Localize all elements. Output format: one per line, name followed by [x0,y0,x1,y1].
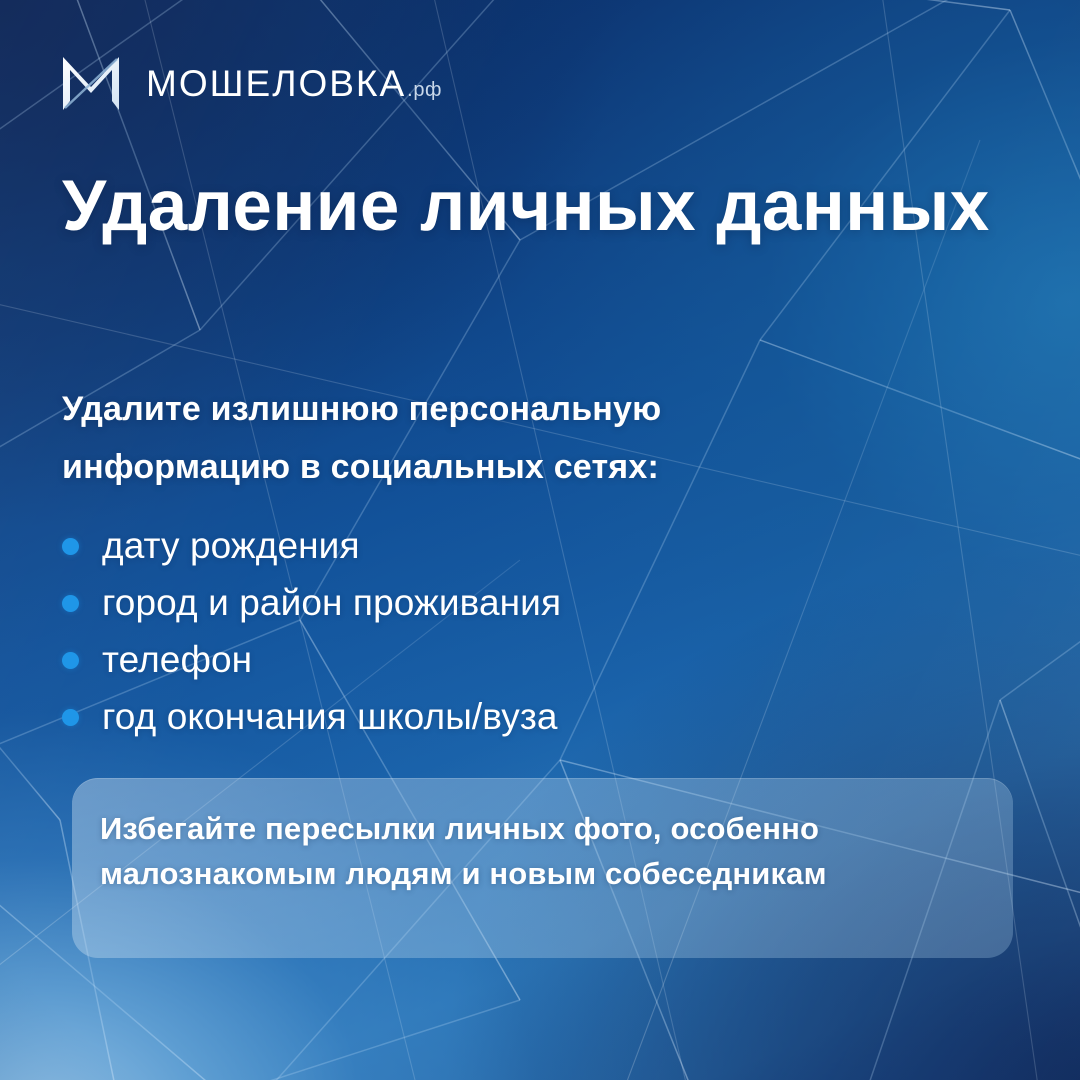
brand-name: МОШЕЛОВКА [146,65,406,102]
brand-wordmark: МОШЕЛОВКА.рф [146,65,442,102]
advice-callout-text: Избегайте пересылки личных фото, особенн… [100,806,979,896]
list-item: телефон [62,632,962,688]
card-content: МОШЕЛОВКА.рф Удаление личных данных Удал… [0,0,1080,1080]
bullet-dot-icon [62,652,79,669]
list-item: год окончания школы/вуза [62,689,962,745]
bullet-dot-icon [62,595,79,612]
list-item-label: дату рождения [102,524,360,568]
list-item-label: телефон [102,638,252,682]
brand-logo[interactable]: МОШЕЛОВКА.рф [60,54,442,112]
list-item: город и район проживания [62,575,962,631]
brand-tld: .рф [407,80,442,100]
infographic-card: МОШЕЛОВКА.рф Удаление личных данных Удал… [0,0,1080,1080]
bullet-dot-icon [62,538,79,555]
list-item-label: город и район проживания [102,581,561,625]
bullet-dot-icon [62,709,79,726]
page-title: Удаление личных данных [62,170,992,243]
advice-callout-box: Избегайте пересылки личных фото, особенн… [72,778,1013,958]
list-item-label: год окончания школы/вуза [102,695,558,739]
page-subtitle: Удалите излишнюю персональную информацию… [62,380,882,496]
m-monogram-icon [60,54,124,112]
bullet-list: дату рождения город и район проживания т… [62,518,962,746]
list-item: дату рождения [62,518,962,574]
